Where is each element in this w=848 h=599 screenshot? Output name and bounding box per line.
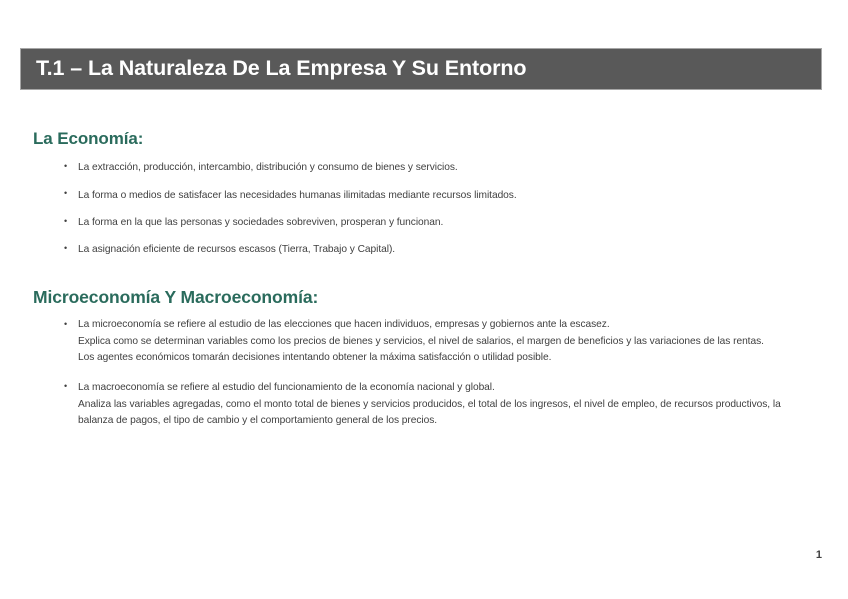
section-micro-macroeconomia: Microeconomía Y Macroeconomía: La microe… (33, 287, 815, 430)
list-item-line: La asignación eficiente de recursos esca… (78, 241, 815, 258)
section-la-economia: La Economía: La extracción, producción, … (33, 128, 815, 259)
bullet-list: La extracción, producción, intercambio, … (33, 159, 815, 258)
page-title: T.1 – La Naturaleza De La Empresa Y Su E… (21, 58, 526, 80)
list-item-line: La forma o medios de satisfacer las nece… (78, 187, 815, 204)
page-number: 1 (816, 549, 822, 561)
list-item: La forma o medios de satisfacer las nece… (33, 187, 815, 204)
title-banner: T.1 – La Naturaleza De La Empresa Y Su E… (20, 48, 822, 90)
list-item-line: La forma en la que las personas y socied… (78, 214, 815, 231)
list-item: La extracción, producción, intercambio, … (33, 159, 815, 176)
list-item: La asignación eficiente de recursos esca… (33, 241, 815, 258)
bullet-list: La microeconomía se refiere al estudio d… (33, 317, 815, 429)
list-item-line: Analiza las variables agregadas, como el… (78, 397, 815, 430)
list-item-line: La macroeconomía se refiere al estudio d… (78, 380, 815, 397)
list-item-line: La microeconomía se refiere al estudio d… (78, 317, 815, 334)
list-item: La microeconomía se refiere al estudio d… (33, 317, 815, 367)
list-item: La forma en la que las personas y socied… (33, 214, 815, 231)
list-item-line: Los agentes económicos tomarán decisione… (78, 350, 815, 367)
document-page: T.1 – La Naturaleza De La Empresa Y Su E… (0, 0, 848, 599)
section-heading: Microeconomía Y Macroeconomía: (33, 287, 815, 309)
list-item: La macroeconomía se refiere al estudio d… (33, 380, 815, 430)
section-heading: La Economía: (33, 128, 815, 149)
list-item-line: Explica como se determinan variables com… (78, 334, 815, 351)
list-item-line: La extracción, producción, intercambio, … (78, 159, 815, 176)
document-content: La Economía: La extracción, producción, … (33, 128, 815, 430)
